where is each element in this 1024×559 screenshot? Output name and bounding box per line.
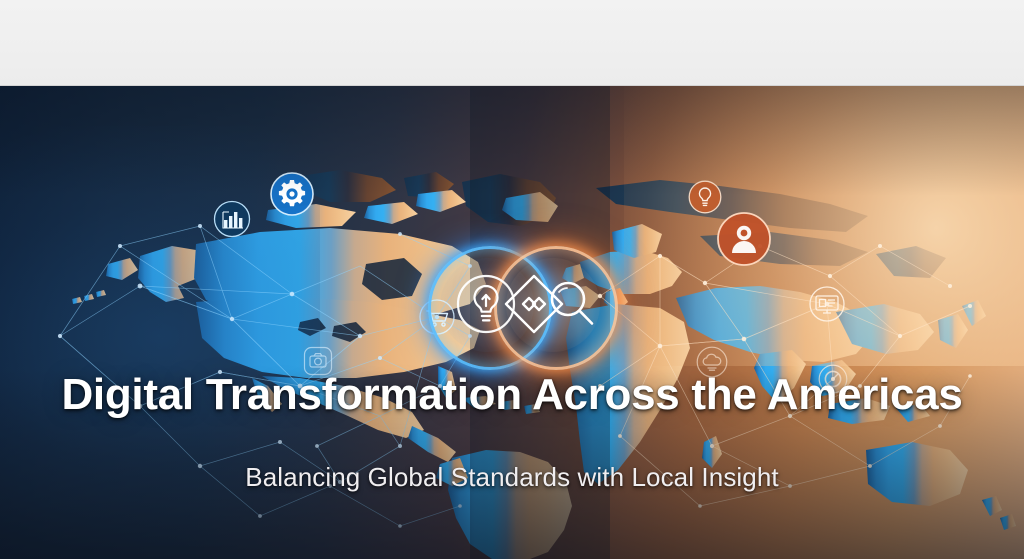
hero-banner: Digital Transformation Across the Americ…: [0, 86, 1024, 559]
hero-banner-page: Digital Transformation Across the Americ…: [0, 0, 1024, 559]
top-blank-strip: [0, 0, 1024, 86]
world-map-graphic: [0, 86, 1024, 559]
